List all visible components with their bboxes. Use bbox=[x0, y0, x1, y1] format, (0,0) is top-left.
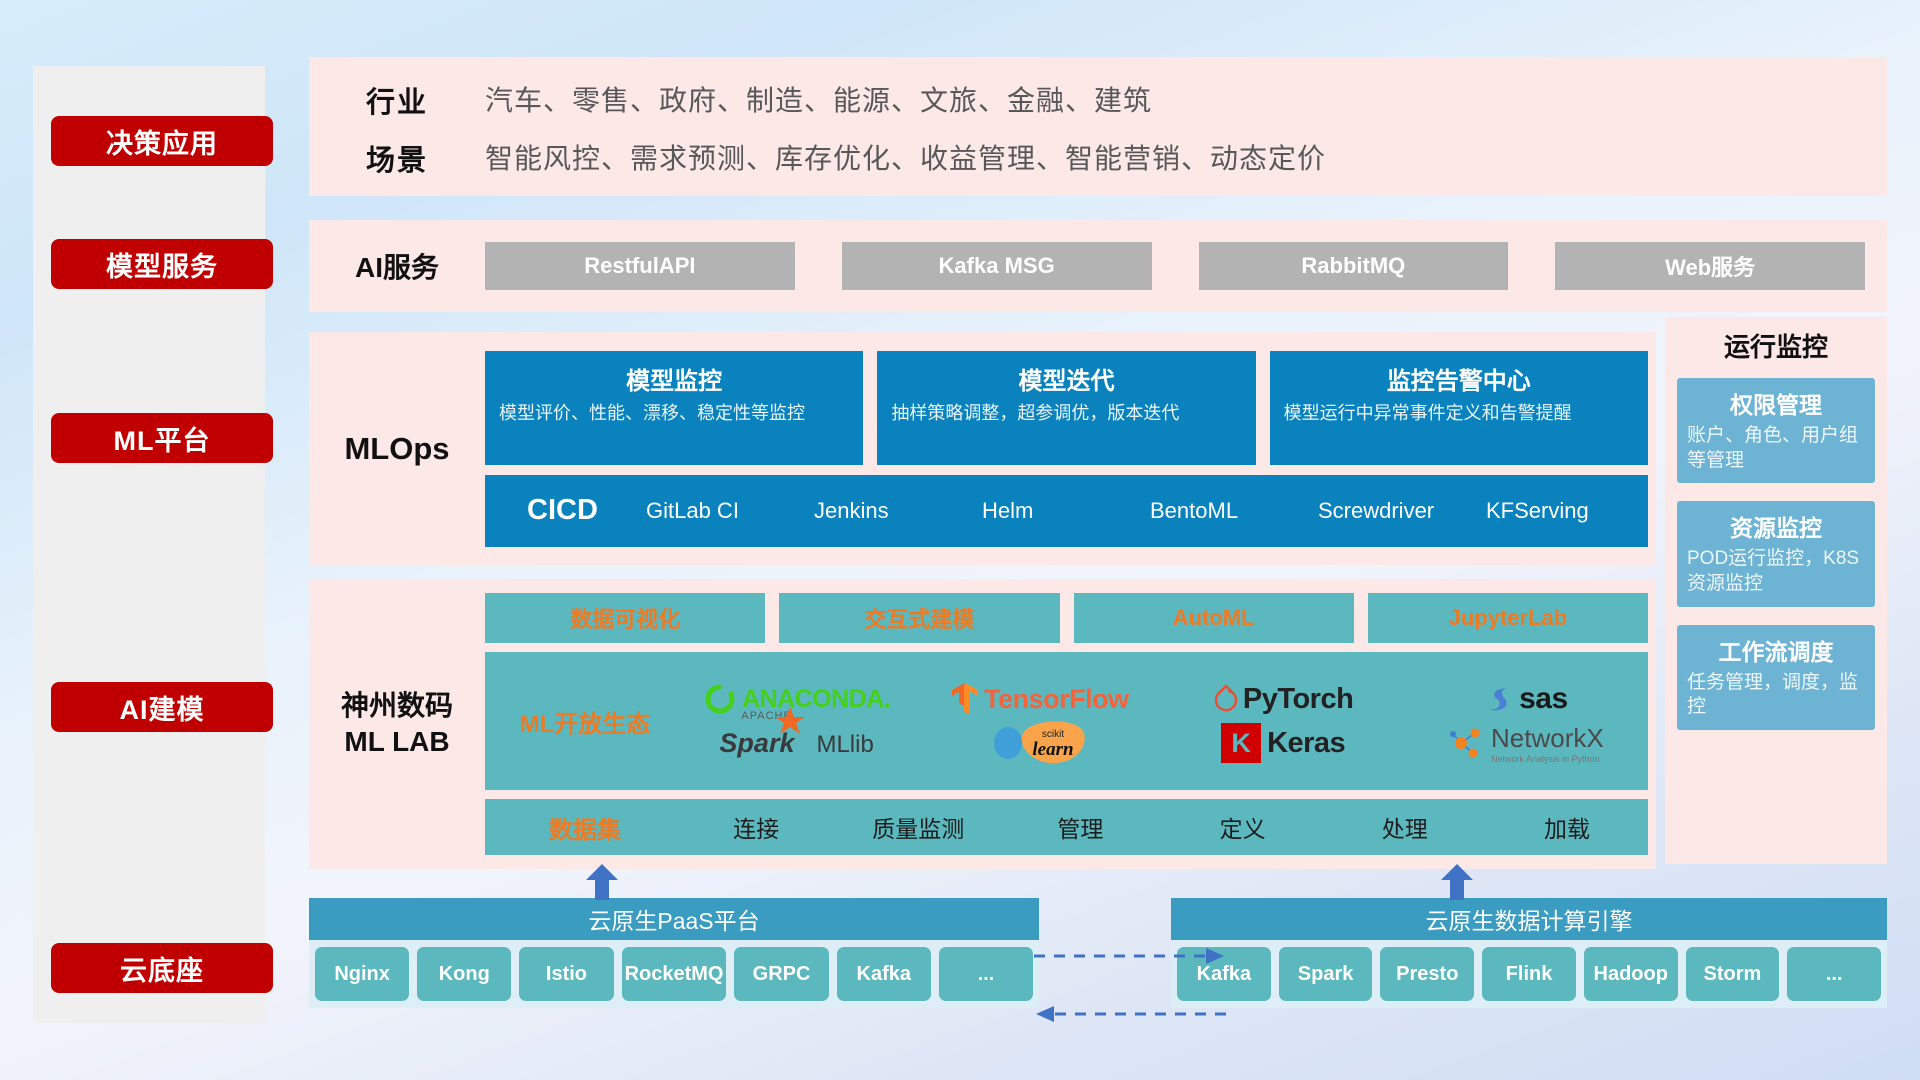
keras-mark-icon: K bbox=[1221, 723, 1261, 763]
paas-title: 云原生PaaS平台 bbox=[309, 898, 1039, 940]
monitor-card-resource[interactable]: 资源监控 POD运行监控，K8S资源监控 bbox=[1677, 501, 1875, 606]
card-desc: 抽样策略调整，超参调优，版本迭代 bbox=[891, 402, 1241, 426]
svg-text:learn: learn bbox=[1032, 739, 1073, 760]
engine-chip-list: Kafka Spark Presto Flink Hadoop Storm ..… bbox=[1171, 940, 1887, 1008]
mlops-card-alert-center[interactable]: 监控告警中心 模型运行中异常事件定义和告警提醒 bbox=[1270, 351, 1648, 465]
bidirectional-connectors bbox=[1030, 940, 1230, 1030]
monitor-card-desc: POD运行监控，K8S资源监控 bbox=[1687, 547, 1865, 596]
sas-logo: sas bbox=[1485, 682, 1568, 716]
ml-lab-label-line1: 神州数码 bbox=[309, 688, 485, 724]
scenario-values: 智能风控、需求预测、库存优化、收益管理、智能营销、动态定价 bbox=[485, 137, 1326, 177]
tab-interactive-modeling[interactable]: 交互式建模 bbox=[779, 593, 1059, 643]
monitor-card-desc: 任务管理，调度，监控 bbox=[1687, 671, 1865, 720]
tab-jupyterlab[interactable]: JupyterLab bbox=[1368, 593, 1648, 643]
mlops-band: MLOps 模型监控 模型评价、性能、漂移、稳定性等监控 模型迭代 抽样策略调整… bbox=[309, 332, 1656, 565]
paas-chip-nginx[interactable]: Nginx bbox=[315, 947, 409, 1001]
cicd-label: CICD bbox=[485, 494, 640, 527]
ai-service-band: AI服务 RestfulAPI Kafka MSG RabbitMQ Web服务 bbox=[309, 220, 1887, 312]
engine-chip-flink[interactable]: Flink bbox=[1482, 947, 1576, 1001]
dataset-item-load[interactable]: 加载 bbox=[1486, 810, 1648, 844]
networkx-wordmark: NetworkX bbox=[1491, 723, 1604, 754]
stage-chip-cloud-base[interactable]: 云底座 bbox=[51, 943, 273, 993]
mlops-content: 模型监控 模型评价、性能、漂移、稳定性等监控 模型迭代 抽样策略调整，超参调优，… bbox=[485, 351, 1656, 547]
mlops-card-model-iteration[interactable]: 模型迭代 抽样策略调整，超参调优，版本迭代 bbox=[877, 351, 1255, 465]
mlops-card-list: 模型监控 模型评价、性能、漂移、稳定性等监控 模型迭代 抽样策略调整，超参调优，… bbox=[485, 351, 1648, 465]
card-title: 模型迭代 bbox=[891, 361, 1241, 396]
runtime-monitor-title: 运行监控 bbox=[1677, 327, 1875, 364]
engine-chip-presto[interactable]: Presto bbox=[1380, 947, 1474, 1001]
cloud-native-data-engine-group: 云原生数据计算引擎 Kafka Spark Presto Flink Hadoo… bbox=[1171, 898, 1887, 1008]
runtime-monitor-panel: 运行监控 权限管理 账户、角色、用户组等管理 资源监控 POD运行监控，K8S资… bbox=[1665, 317, 1887, 864]
tensorflow-wordmark: TensorFlow bbox=[984, 684, 1129, 715]
cicd-item-helm[interactable]: Helm bbox=[976, 497, 1144, 525]
paas-chip-istio[interactable]: Istio bbox=[519, 947, 613, 1001]
paas-chip-more[interactable]: ... bbox=[939, 947, 1033, 1001]
pytorch-wordmark: PyTorch bbox=[1243, 683, 1353, 716]
mlops-card-model-monitoring[interactable]: 模型监控 模型评价、性能、漂移、稳定性等监控 bbox=[485, 351, 863, 465]
keras-logo: K Keras bbox=[1221, 723, 1345, 763]
industry-label: 行业 bbox=[309, 79, 485, 121]
pytorch-logo: PyTorch bbox=[1213, 683, 1353, 716]
spark-star-icon bbox=[773, 706, 807, 736]
main-diagram-column: 行业 汽车、零售、政府、制造、能源、文旅、金融、建筑 场景 智能风控、需求预测、… bbox=[309, 57, 1887, 869]
stage-chip-decision[interactable]: 决策应用 bbox=[51, 116, 273, 166]
monitor-card-title: 工作流调度 bbox=[1687, 633, 1865, 667]
mllib-wordmark: MLlib bbox=[816, 731, 873, 759]
cloud-native-paas-group: 云原生PaaS平台 Nginx Kong Istio RocketMQ GRPC… bbox=[309, 898, 1039, 1008]
card-title: 模型监控 bbox=[499, 361, 849, 396]
paas-chip-kafka[interactable]: Kafka bbox=[837, 947, 931, 1001]
card-desc: 模型评价、性能、漂移、稳定性等监控 bbox=[499, 402, 849, 426]
stage-chip-model-service[interactable]: 模型服务 bbox=[51, 239, 273, 289]
service-box-restfulapi[interactable]: RestfulAPI bbox=[485, 242, 795, 290]
cicd-item-kfserving[interactable]: KFServing bbox=[1480, 497, 1648, 525]
ecosystem-logo-grid: ANACONDA. TensorFlow bbox=[675, 677, 1648, 765]
paas-chip-kong[interactable]: Kong bbox=[417, 947, 511, 1001]
dataset-item-connect[interactable]: 连接 bbox=[675, 810, 837, 844]
ml-lab-tab-list: 数据可视化 交互式建模 AutoML JupyterLab bbox=[485, 593, 1648, 643]
engine-chip-more[interactable]: ... bbox=[1787, 947, 1881, 1001]
industry-row: 行业 汽车、零售、政府、制造、能源、文旅、金融、建筑 bbox=[309, 79, 1887, 121]
sas-wordmark: sas bbox=[1519, 682, 1568, 716]
card-desc: 模型运行中异常事件定义和告警提醒 bbox=[1284, 402, 1634, 426]
ml-lab-content: 数据可视化 交互式建模 AutoML JupyterLab ML开放生态 bbox=[485, 593, 1656, 855]
monitor-card-workflow[interactable]: 工作流调度 任务管理，调度，监控 bbox=[1677, 625, 1875, 730]
application-band: 行业 汽车、零售、政府、制造、能源、文旅、金融、建筑 场景 智能风控、需求预测、… bbox=[309, 57, 1887, 196]
tensorflow-logo: TensorFlow bbox=[951, 681, 1129, 717]
dataset-label: 数据集 bbox=[495, 810, 675, 845]
tab-data-visualization[interactable]: 数据可视化 bbox=[485, 593, 765, 643]
engine-title: 云原生数据计算引擎 bbox=[1171, 898, 1887, 940]
cicd-item-gitlab-ci[interactable]: GitLab CI bbox=[640, 497, 808, 525]
up-arrow-icon-engine bbox=[1437, 864, 1477, 900]
dataset-item-quality-monitor[interactable]: 质量监测 bbox=[837, 810, 999, 844]
cicd-item-bentoml[interactable]: BentoML bbox=[1144, 497, 1312, 525]
spark-mllib-logo: APACHE Spark MLlib bbox=[719, 728, 873, 759]
ai-modelling-band: 神州数码 ML LAB 数据可视化 交互式建模 AutoML JupyterLa… bbox=[309, 579, 1656, 869]
stage-chip-ml-platform[interactable]: ML平台 bbox=[51, 413, 273, 463]
monitor-card-title: 权限管理 bbox=[1687, 386, 1865, 420]
cicd-bar: CICD GitLab CI Jenkins Helm BentoML Scre… bbox=[485, 475, 1648, 547]
ml-open-ecosystem: ML开放生态 ANACONDA. bbox=[485, 652, 1648, 790]
scenario-label: 场景 bbox=[309, 137, 485, 179]
up-arrow-icon-paas bbox=[582, 864, 622, 900]
ecosystem-label: ML开放生态 bbox=[495, 704, 675, 739]
service-box-kafka-msg[interactable]: Kafka MSG bbox=[842, 242, 1152, 290]
pytorch-flame-icon bbox=[1213, 683, 1239, 715]
monitor-card-desc: 账户、角色、用户组等管理 bbox=[1687, 424, 1865, 473]
ml-lab-label: 神州数码 ML LAB bbox=[309, 688, 485, 761]
industry-values: 汽车、零售、政府、制造、能源、文旅、金融、建筑 bbox=[485, 79, 1152, 119]
cicd-item-screwdriver[interactable]: Screwdriver bbox=[1312, 497, 1480, 525]
tensorflow-mark-icon bbox=[951, 681, 981, 717]
stage-label-column: 决策应用 模型服务 ML平台 AI建模 云底座 bbox=[33, 66, 265, 1023]
networkx-graph-icon bbox=[1449, 725, 1487, 761]
ai-service-label: AI服务 bbox=[309, 246, 485, 286]
monitor-card-permission[interactable]: 权限管理 账户、角色、用户组等管理 bbox=[1677, 378, 1875, 483]
ml-lab-label-line2: ML LAB bbox=[309, 724, 485, 760]
dataset-item-process[interactable]: 处理 bbox=[1324, 810, 1486, 844]
networkx-tagline: Network Analysis in Python bbox=[1491, 754, 1600, 764]
ai-service-list: RestfulAPI Kafka MSG RabbitMQ Web服务 bbox=[485, 242, 1887, 290]
scikit-learn-logo: scikit learn bbox=[991, 721, 1089, 765]
cicd-item-jenkins[interactable]: Jenkins bbox=[808, 497, 976, 525]
keras-wordmark: Keras bbox=[1267, 727, 1345, 760]
engine-chip-hadoop[interactable]: Hadoop bbox=[1584, 947, 1678, 1001]
keras-letter: K bbox=[1231, 728, 1251, 759]
stage-chip-ai-modelling[interactable]: AI建模 bbox=[51, 682, 273, 732]
dataset-bar: 数据集 连接 质量监测 管理 定义 处理 加载 bbox=[485, 799, 1648, 855]
dataset-item-define[interactable]: 定义 bbox=[1162, 810, 1324, 844]
engine-chip-storm[interactable]: Storm bbox=[1686, 947, 1780, 1001]
networkx-logo: NetworkX Network Analysis in Python bbox=[1449, 723, 1604, 764]
card-title: 监控告警中心 bbox=[1284, 361, 1634, 396]
scenario-row: 场景 智能风控、需求预测、库存优化、收益管理、智能营销、动态定价 bbox=[309, 137, 1887, 179]
anaconda-mark-icon bbox=[703, 682, 737, 716]
paas-chip-list: Nginx Kong Istio RocketMQ GRPC Kafka ... bbox=[309, 940, 1039, 1008]
mlops-label: MLOps bbox=[309, 431, 485, 467]
sas-mark-icon bbox=[1485, 683, 1517, 715]
monitor-card-title: 资源监控 bbox=[1687, 509, 1865, 543]
scikit-orange-blob-icon: scikit learn bbox=[1017, 721, 1089, 765]
service-box-web[interactable]: Web服务 bbox=[1555, 242, 1865, 290]
paas-chip-grpc[interactable]: GRPC bbox=[734, 947, 828, 1001]
dataset-item-manage[interactable]: 管理 bbox=[999, 810, 1161, 844]
service-box-rabbitmq[interactable]: RabbitMQ bbox=[1199, 242, 1509, 290]
engine-chip-spark[interactable]: Spark bbox=[1279, 947, 1373, 1001]
tab-automl[interactable]: AutoML bbox=[1074, 593, 1354, 643]
paas-chip-rocketmq[interactable]: RocketMQ bbox=[622, 947, 727, 1001]
